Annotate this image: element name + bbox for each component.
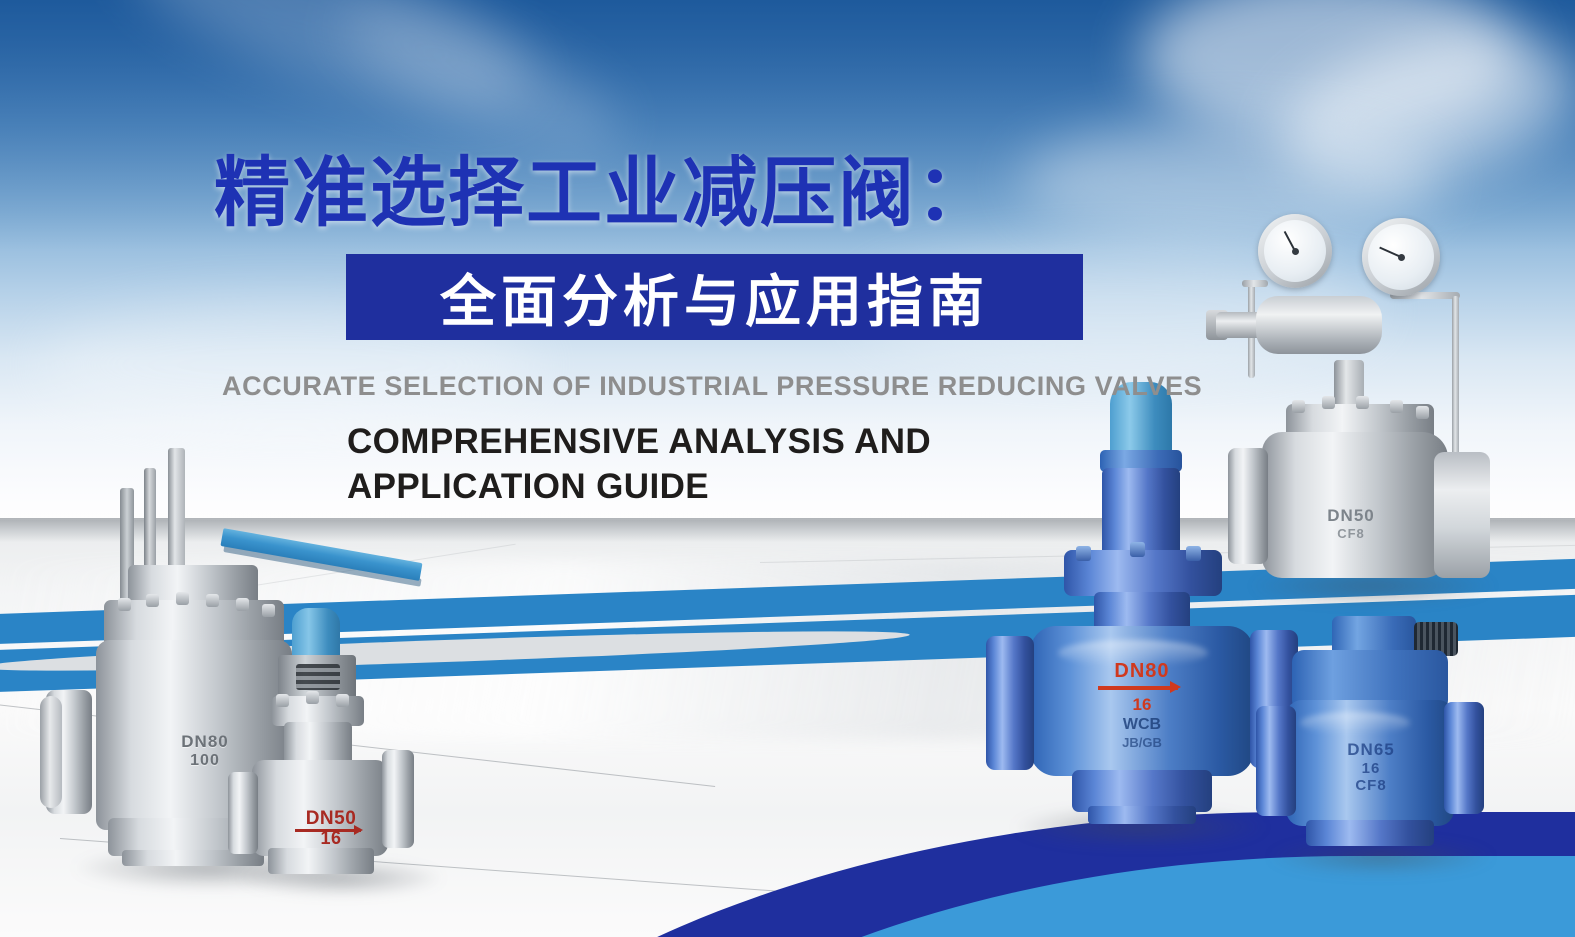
valve-spring-window xyxy=(296,664,340,690)
bolt-icon xyxy=(146,594,159,607)
bolt-icon xyxy=(236,598,249,611)
valve-flange-right xyxy=(382,750,414,848)
gauge-hub xyxy=(1292,248,1299,255)
valve-base xyxy=(1306,820,1434,846)
valve-dn-label: DN50 xyxy=(1327,506,1374,525)
valve-flange-left xyxy=(1228,448,1268,564)
valve-pilot-body xyxy=(1256,296,1382,354)
valve-base-plate xyxy=(1088,806,1196,824)
valve-marking-left-large: DN80 100 xyxy=(150,732,260,770)
valve-standard-label: JB/GB xyxy=(1080,735,1204,750)
valve-marking-right-blue: DN65 16 CF8 xyxy=(1316,740,1426,794)
valve-material-label: WCB xyxy=(1080,716,1204,734)
highlight-box: 全面分析与应用指南 xyxy=(346,254,1083,340)
bolt-icon xyxy=(1076,546,1091,561)
subtitle-english: ACCURATE SELECTION OF INDUSTRIAL PRESSUR… xyxy=(222,371,1202,402)
cloud-icon xyxy=(1020,120,1440,240)
valve-flange-face xyxy=(40,696,62,808)
valve-marking-center-blue: DN80 16 WCB JB/GB xyxy=(1080,660,1204,750)
flow-arrow-icon xyxy=(1098,686,1178,690)
bolt-icon xyxy=(262,604,275,617)
valve-rating-label: 100 xyxy=(150,752,260,770)
valve-flange-right xyxy=(1444,702,1484,814)
bolt-icon xyxy=(1292,400,1305,413)
valve-dn-label: DN80 xyxy=(150,732,260,752)
valve-rating-label: 16 xyxy=(1080,695,1204,715)
bolt-icon xyxy=(1390,400,1403,413)
pressure-gauge-icon xyxy=(1258,214,1332,288)
bolt-icon xyxy=(206,594,219,607)
valve-material-label: CF8 xyxy=(1296,526,1406,541)
valve-stem xyxy=(168,448,185,578)
flow-arrow-icon xyxy=(295,829,361,832)
valve-body-stainless xyxy=(1262,432,1448,578)
bolt-icon xyxy=(306,691,319,704)
gauge-tube xyxy=(1452,296,1459,476)
valve-dn-label: DN80 xyxy=(1080,660,1204,683)
bolt-icon xyxy=(1130,542,1145,557)
valve-rating-label: 16 xyxy=(1316,760,1426,777)
valve-dn-label: DN50 xyxy=(306,808,357,829)
bolt-icon xyxy=(1416,406,1429,419)
bolt-icon xyxy=(176,592,189,605)
valve-flange-left xyxy=(986,636,1034,770)
bolt-icon xyxy=(336,694,349,707)
page-title-chinese: 精准选择工业减压阀： xyxy=(214,131,994,241)
gauge-tube xyxy=(1242,280,1268,287)
pressure-gauge-icon xyxy=(1362,218,1440,296)
valve-material-label: CF8 xyxy=(1316,777,1426,794)
valve-dn-label: DN65 xyxy=(1347,740,1394,759)
bolt-icon xyxy=(1356,396,1369,409)
valve-flange-left xyxy=(1256,706,1296,816)
valve-marking-stainless: DN50 CF8 xyxy=(1296,506,1406,541)
bolt-icon xyxy=(276,694,289,707)
bolt-icon xyxy=(118,598,131,611)
main-title-english-line1: COMPREHENSIVE ANALYSIS AND xyxy=(347,420,1067,465)
main-title-english: COMPREHENSIVE ANALYSIS AND APPLICATION G… xyxy=(347,420,1067,510)
valve-base xyxy=(268,848,374,874)
bolt-icon xyxy=(1322,396,1335,409)
bolt-icon xyxy=(1186,546,1201,561)
banner-root: DN80 100 DN50 16 DN50 xyxy=(0,0,1575,937)
highlight-title-chinese: 全面分析与应用指南 xyxy=(346,254,1083,340)
valve-flange-right xyxy=(1434,452,1490,578)
valve-flange-left xyxy=(228,772,258,854)
gauge-hub xyxy=(1398,254,1405,261)
main-title-english-line2: APPLICATION GUIDE xyxy=(347,465,1067,510)
